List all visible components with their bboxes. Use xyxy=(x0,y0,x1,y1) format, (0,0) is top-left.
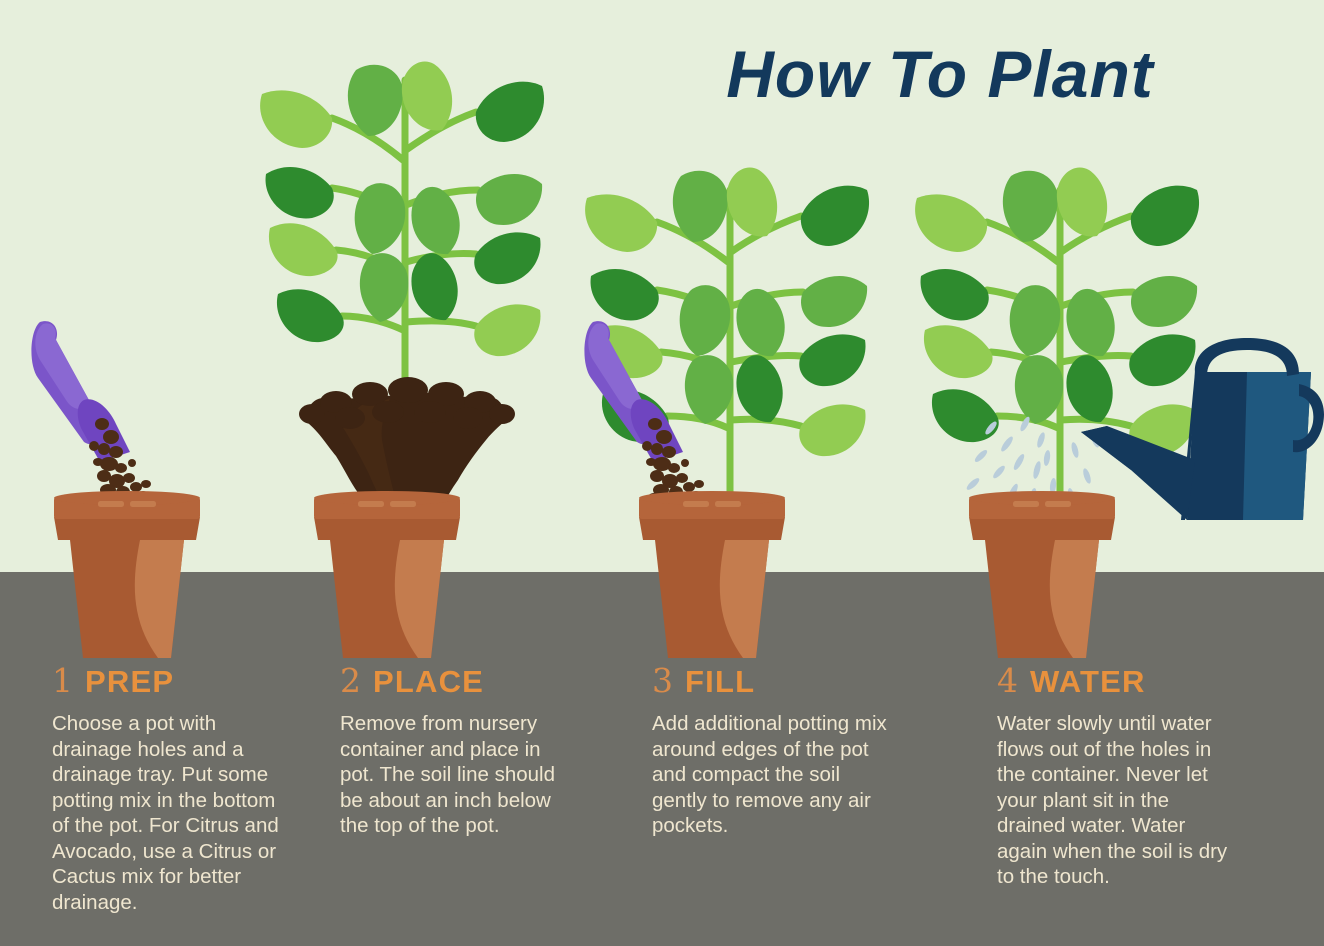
step-label-3: FILL xyxy=(685,666,755,697)
step-number-2: 2 xyxy=(340,664,361,697)
step-block-2: 2PLACE Remove from nursery container and… xyxy=(340,664,578,839)
step-body-4: Water slowly until water flows out of th… xyxy=(997,711,1235,890)
infographic-poster: How To Plant xyxy=(0,0,1324,946)
step-body-2: Remove from nursery container and place … xyxy=(340,711,578,839)
step-body-3: Add additional potting mix around edges … xyxy=(652,711,890,839)
step-body-1: Choose a pot with drainage holes and a d… xyxy=(52,711,290,915)
step-number-3: 3 xyxy=(652,664,673,697)
step-label-4: WATER xyxy=(1030,666,1146,697)
step-heading-1: 1PREP xyxy=(52,664,290,697)
step-block-1: 1PREP Choose a pot with drainage holes a… xyxy=(52,664,290,915)
step-heading-4: 4WATER xyxy=(997,664,1235,697)
step-heading-2: 2PLACE xyxy=(340,664,578,697)
step-heading-3: 3FILL xyxy=(652,664,890,697)
step-label-2: PLACE xyxy=(373,666,484,697)
step-label-1: PREP xyxy=(85,666,174,697)
step-number-4: 4 xyxy=(997,664,1018,697)
step-number-1: 1 xyxy=(52,664,73,697)
page-title: How To Plant xyxy=(700,36,1180,112)
step-block-3: 3FILL Add additional potting mix around … xyxy=(652,664,890,839)
step-block-4: 4WATER Water slowly until water flows ou… xyxy=(997,664,1235,890)
